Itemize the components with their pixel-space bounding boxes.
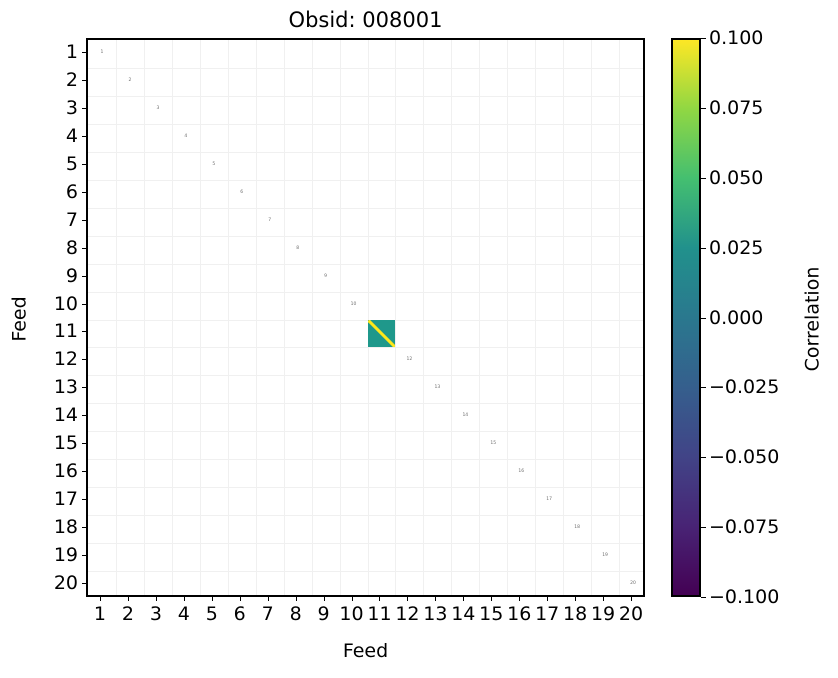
colorbar-tick xyxy=(701,178,706,179)
x-axis-tick xyxy=(603,597,604,601)
x-axis-tick xyxy=(100,597,101,601)
y-axis-tick-label: 1 xyxy=(66,41,78,63)
x-axis-tick-label: 11 xyxy=(367,603,391,625)
x-axis-label: Feed xyxy=(86,640,645,662)
y-axis-tick xyxy=(82,220,86,221)
heatmap-diagonal-marker: 13 xyxy=(431,386,443,391)
gridline-horizontal xyxy=(88,403,643,404)
gridline-horizontal xyxy=(88,292,643,293)
x-axis-tick-label: 1 xyxy=(94,603,106,625)
gridline-vertical xyxy=(256,40,257,595)
y-axis-tick-label: 11 xyxy=(54,320,78,342)
x-axis-tick-label: 19 xyxy=(591,603,615,625)
heatmap-plot-area: 1234567891011121314151617181920 xyxy=(88,40,643,595)
y-axis-tick xyxy=(82,499,86,500)
y-axis-tick xyxy=(82,52,86,53)
gridline-vertical xyxy=(395,40,396,595)
heatmap-diagonal-marker: 15 xyxy=(487,442,499,447)
x-axis-tick xyxy=(156,597,157,601)
y-axis-tick xyxy=(82,443,86,444)
y-axis-tick xyxy=(82,108,86,109)
figure-canvas: Obsid: 008001 12345678910111213141516171… xyxy=(0,0,838,678)
page-title: Obsid: 008001 xyxy=(86,8,645,32)
x-axis-tick xyxy=(379,597,380,601)
heatmap-diagonal-marker: 12 xyxy=(403,358,415,363)
heatmap-diagonal-marker: 1 xyxy=(96,51,108,56)
y-axis-tick xyxy=(82,304,86,305)
x-axis-tick xyxy=(128,597,129,601)
x-axis-tick xyxy=(519,597,520,601)
colorbar-tick-label: 0.075 xyxy=(709,97,763,119)
gridline-vertical xyxy=(284,40,285,595)
gridline-horizontal xyxy=(88,459,643,460)
heatmap-diagonal-marker: 7 xyxy=(264,219,276,224)
gridline-vertical xyxy=(451,40,452,595)
x-axis-tick-label: 13 xyxy=(423,603,447,625)
gridline-horizontal xyxy=(88,152,643,153)
colorbar-tick xyxy=(701,597,706,598)
gridline-horizontal xyxy=(88,347,643,348)
heatmap-diagonal-marker: 14 xyxy=(459,414,471,419)
x-axis-tick-label: 10 xyxy=(339,603,363,625)
y-axis-tick-label: 7 xyxy=(66,209,78,231)
heatmap-cell-diagonal-stripe-icon xyxy=(368,320,396,348)
x-axis-tick xyxy=(212,597,213,601)
gridline-horizontal xyxy=(88,543,643,544)
colorbar-tick xyxy=(701,387,706,388)
colorbar-tick-label: −0.050 xyxy=(709,446,779,468)
gridline-horizontal xyxy=(88,571,643,572)
gridline-horizontal xyxy=(88,487,643,488)
gridline-horizontal xyxy=(88,264,643,265)
gridline-vertical xyxy=(228,40,229,595)
y-axis-tick-label: 19 xyxy=(54,544,78,566)
gridline-horizontal xyxy=(88,375,643,376)
gridline-vertical xyxy=(312,40,313,595)
colorbar-tick xyxy=(701,248,706,249)
gridline-horizontal xyxy=(88,320,643,321)
x-axis-tick xyxy=(407,597,408,601)
y-axis-tick xyxy=(82,555,86,556)
y-axis-tick xyxy=(82,248,86,249)
y-axis-tick-label: 17 xyxy=(54,488,78,510)
x-axis-tick xyxy=(184,597,185,601)
heatmap-diagonal-marker: 18 xyxy=(571,526,583,531)
y-axis-tick xyxy=(82,415,86,416)
x-axis-tick xyxy=(463,597,464,601)
x-axis-tick-label: 12 xyxy=(395,603,419,625)
x-axis-tick-label: 7 xyxy=(262,603,274,625)
y-axis-tick xyxy=(82,527,86,528)
gridline-horizontal xyxy=(88,124,643,125)
heatmap-diagonal-marker: 16 xyxy=(515,470,527,475)
gridline-vertical xyxy=(535,40,536,595)
heatmap-diagonal-marker: 3 xyxy=(152,107,164,112)
x-axis-tick-label: 9 xyxy=(318,603,330,625)
y-axis-tick-label: 6 xyxy=(66,181,78,203)
gridline-vertical xyxy=(619,40,620,595)
heatmap-axes[interactable]: 1234567891011121314151617181920 xyxy=(86,38,645,597)
y-axis-tick xyxy=(82,164,86,165)
colorbar-tick-label: −0.075 xyxy=(709,516,779,538)
colorbar-tick-label: −0.025 xyxy=(709,376,779,398)
y-axis-label: Feed xyxy=(9,40,31,599)
y-axis-tick-label: 4 xyxy=(66,125,78,147)
gridline-vertical xyxy=(479,40,480,595)
y-axis-tick-label: 2 xyxy=(66,69,78,91)
x-axis-tick xyxy=(268,597,269,601)
x-axis-tick-label: 17 xyxy=(535,603,559,625)
heatmap-diagonal-marker: 6 xyxy=(236,191,248,196)
y-axis-tick xyxy=(82,80,86,81)
x-axis-tick xyxy=(631,597,632,601)
x-axis-tick xyxy=(491,597,492,601)
x-axis-tick-label: 3 xyxy=(150,603,162,625)
gridline-horizontal xyxy=(88,208,643,209)
gridline-horizontal xyxy=(88,236,643,237)
gridline-horizontal xyxy=(88,515,643,516)
gridline-vertical xyxy=(563,40,564,595)
heatmap-cell-highlighted[interactable] xyxy=(368,320,396,348)
x-axis-tick-label: 2 xyxy=(122,603,134,625)
colorbar-tick xyxy=(701,38,706,39)
heatmap-diagonal-marker: 10 xyxy=(348,303,360,308)
heatmap-diagonal-marker: 20 xyxy=(627,582,639,587)
colorbar-tick-label: 0.050 xyxy=(709,167,763,189)
gridline-vertical xyxy=(368,40,369,595)
gridline-vertical xyxy=(423,40,424,595)
y-axis-tick-label: 16 xyxy=(54,460,78,482)
y-axis-tick-label: 9 xyxy=(66,265,78,287)
y-axis-tick-label: 20 xyxy=(54,572,78,594)
y-axis-tick-label: 8 xyxy=(66,237,78,259)
colorbar[interactable] xyxy=(671,38,701,597)
y-axis-tick-label: 3 xyxy=(66,97,78,119)
x-axis-tick xyxy=(575,597,576,601)
x-axis-tick-label: 8 xyxy=(290,603,302,625)
x-axis-tick-label: 20 xyxy=(619,603,643,625)
x-axis-tick xyxy=(324,597,325,601)
x-axis-tick xyxy=(240,597,241,601)
y-axis-tick-label: 12 xyxy=(54,348,78,370)
gridline-horizontal xyxy=(88,180,643,181)
colorbar-tick xyxy=(701,527,706,528)
x-axis-tick xyxy=(547,597,548,601)
x-axis-tick xyxy=(296,597,297,601)
x-axis-tick-label: 14 xyxy=(451,603,475,625)
heatmap-diagonal-marker: 8 xyxy=(292,247,304,252)
y-axis-tick-label: 14 xyxy=(54,404,78,426)
x-axis-tick-label: 5 xyxy=(206,603,218,625)
x-axis-tick-label: 16 xyxy=(507,603,531,625)
colorbar-tick-label: −0.100 xyxy=(709,586,779,608)
gridline-vertical xyxy=(591,40,592,595)
heatmap-diagonal-marker: 5 xyxy=(208,163,220,168)
x-axis-tick-label: 15 xyxy=(479,603,503,625)
gridline-vertical xyxy=(200,40,201,595)
x-axis-tick xyxy=(435,597,436,601)
heatmap-diagonal-marker: 9 xyxy=(320,275,332,280)
colorbar-tick xyxy=(701,318,706,319)
colorbar-tick xyxy=(701,457,706,458)
gridline-vertical xyxy=(340,40,341,595)
colorbar-tick-label: 0.000 xyxy=(709,307,763,329)
colorbar-tick-label: 0.100 xyxy=(709,27,763,49)
heatmap-diagonal-marker: 4 xyxy=(180,135,192,140)
colorbar-label: Correlation xyxy=(802,40,824,599)
y-axis-tick xyxy=(82,192,86,193)
x-axis-tick-label: 4 xyxy=(178,603,190,625)
y-axis-tick xyxy=(82,471,86,472)
heatmap-diagonal-marker: 19 xyxy=(599,554,611,559)
y-axis-tick xyxy=(82,136,86,137)
gridline-horizontal xyxy=(88,431,643,432)
colorbar-tick xyxy=(701,108,706,109)
y-axis-tick xyxy=(82,359,86,360)
y-axis-tick xyxy=(82,331,86,332)
x-axis-tick-label: 18 xyxy=(563,603,587,625)
y-axis-tick-label: 13 xyxy=(54,376,78,398)
y-axis-tick-label: 5 xyxy=(66,153,78,175)
x-axis-tick-label: 6 xyxy=(234,603,246,625)
y-axis-tick xyxy=(82,583,86,584)
y-axis-tick xyxy=(82,276,86,277)
colorbar-gradient xyxy=(673,40,699,595)
colorbar-tick-label: 0.025 xyxy=(709,237,763,259)
heatmap-diagonal-marker: 2 xyxy=(124,79,136,84)
x-axis-tick xyxy=(352,597,353,601)
heatmap-diagonal-marker: 17 xyxy=(543,498,555,503)
y-axis-tick xyxy=(82,387,86,388)
y-axis-tick-label: 10 xyxy=(54,293,78,315)
gridline-vertical xyxy=(507,40,508,595)
y-axis-tick-label: 15 xyxy=(54,432,78,454)
y-axis-tick-label: 18 xyxy=(54,516,78,538)
